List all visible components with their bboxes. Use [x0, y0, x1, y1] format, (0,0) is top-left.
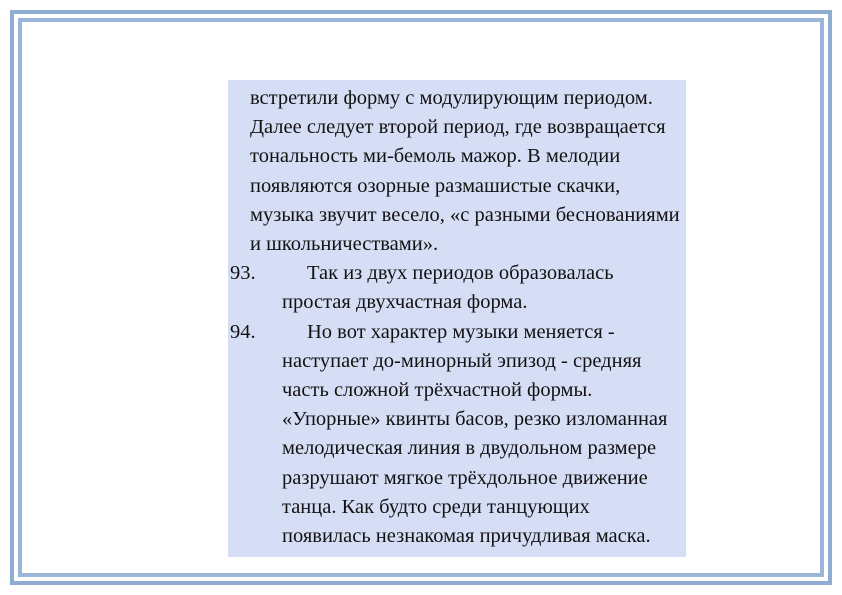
list-item-text: Но вот характер музыки меняется - наступ… — [282, 318, 682, 552]
list-item: 93. Так из двух периодов образовалась пр… — [228, 259, 686, 317]
list-item-marker: 94. — [230, 318, 274, 347]
slide-canvas: встретили форму с модулирующим периодом.… — [0, 0, 842, 595]
highlighted-text-block: встретили форму с модулирующим периодом.… — [228, 80, 686, 557]
list-item-text: Так из двух периодов образовалась проста… — [282, 259, 682, 317]
list-item: 94. Но вот характер музыки меняется - на… — [228, 318, 686, 552]
intro-paragraph: встретили форму с модулирующим периодом.… — [228, 84, 686, 259]
list-item-marker: 93. — [230, 259, 274, 288]
slide-content-area: встретили форму с модулирующим периодом.… — [26, 26, 816, 569]
